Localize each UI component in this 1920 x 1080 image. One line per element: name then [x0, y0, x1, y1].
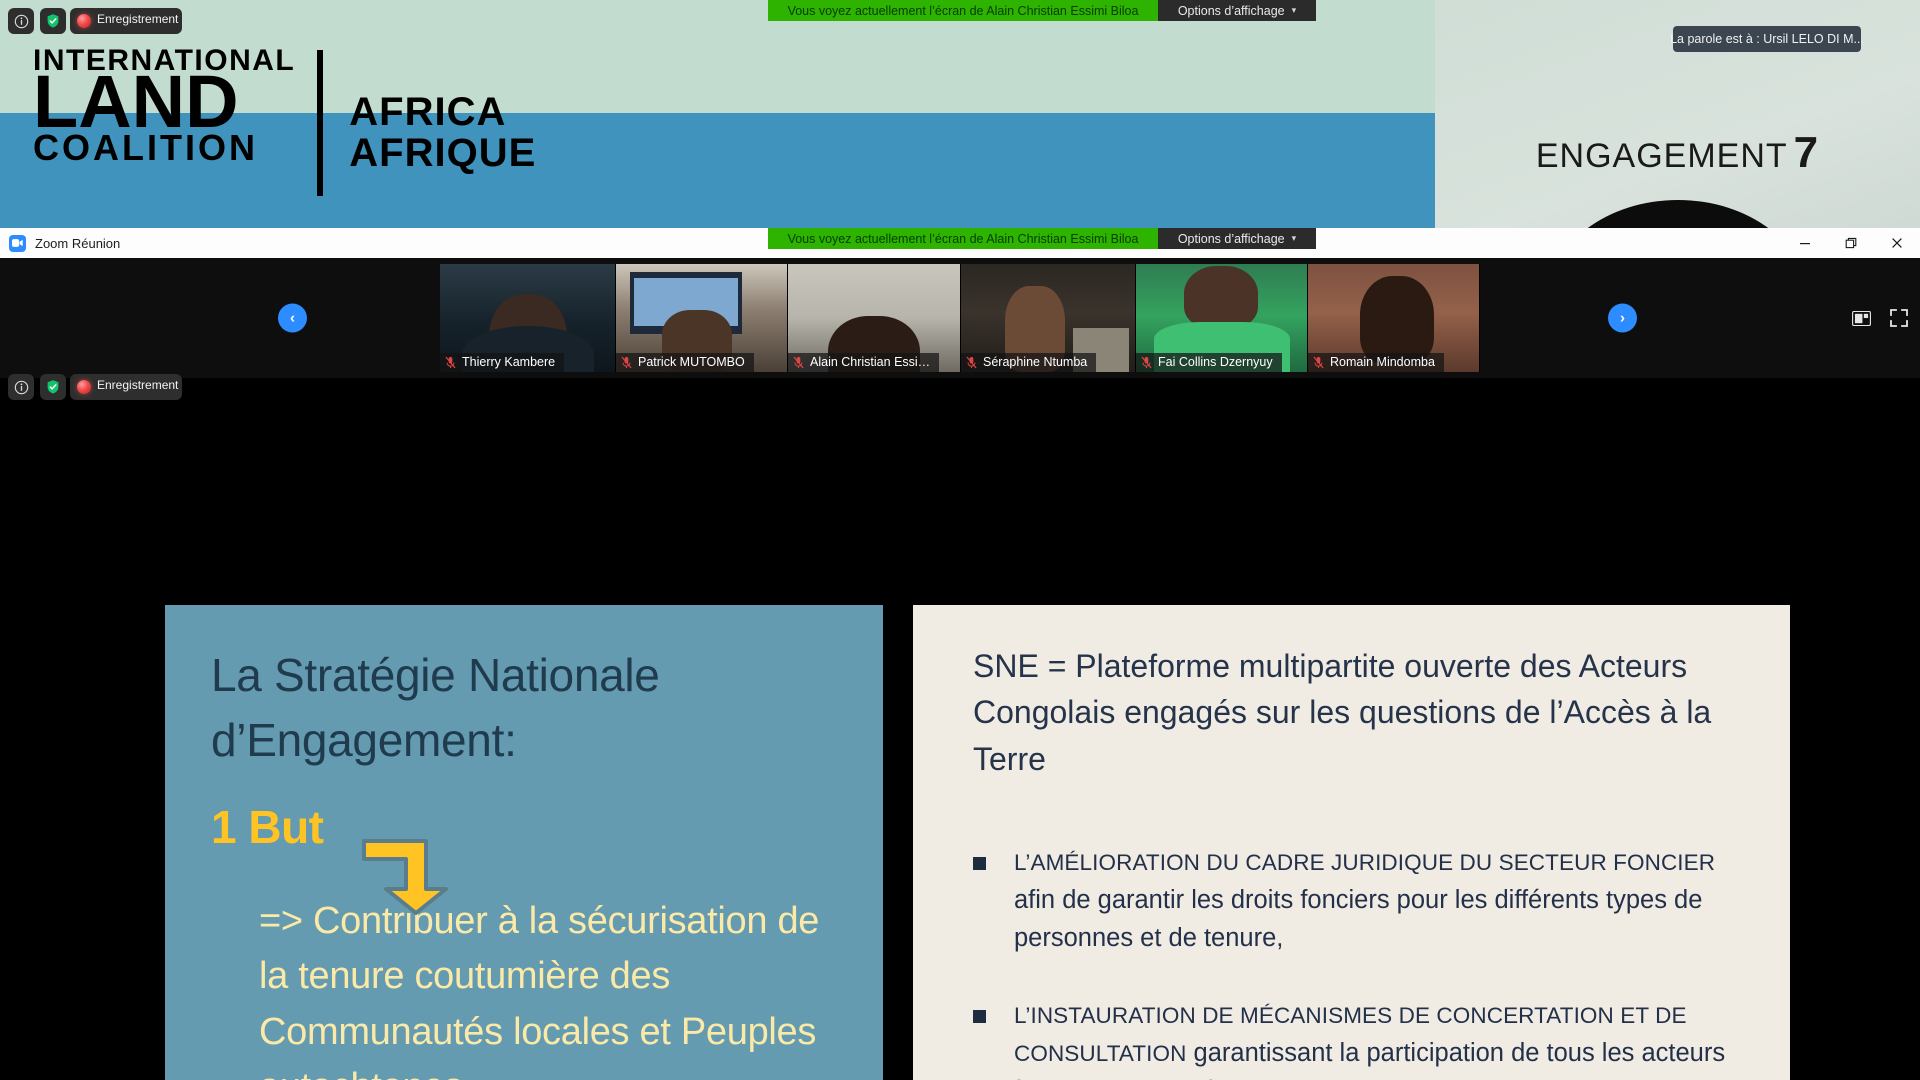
participant-tile[interactable]: Fai Collins Dzernyuy [1136, 264, 1308, 372]
background-slide-header: INTERNATIONAL LAND COALITION AFRICA AFRI… [0, 0, 1920, 240]
screen-root: INTERNATIONAL LAND COALITION AFRICA AFRI… [0, 0, 1920, 1080]
chevron-down-icon: ▾ [1292, 5, 1297, 16]
participant-filmstrip: Thierry Kambere Patrick MUTOMBO [0, 258, 1920, 378]
logo-line-afrique: AFRIQUE [349, 133, 536, 174]
display-options-button-inner[interactable]: Options d’affichage ▾ [1158, 228, 1316, 249]
filmstrip-prev-label: ‹ [290, 310, 295, 327]
participant-tile[interactable]: Thierry Kambere [440, 264, 616, 372]
bullet-square-icon [973, 1010, 986, 1023]
screenshare-notice-outer: Vous voyez actuellement l’écran de Alain… [788, 4, 1139, 18]
participant-name-text: Thierry Kambere [462, 355, 555, 369]
active-speaker-toast: La parole est à : Ursil LELO DI M... [1673, 26, 1861, 52]
slide-bullet-list: L’AMÉLIORATION DU CADRE JURIDIQUE DU SEC… [973, 844, 1730, 1080]
engagement-label: ENGAGEMENT [1536, 137, 1788, 175]
shared-screen-viewport: Enregistrement La Stratégie Nationale d’… [0, 378, 1920, 1080]
mic-off-icon [445, 356, 456, 369]
record-dot-icon-inner [77, 380, 91, 394]
participant-name-text: Patrick MUTOMBO [638, 355, 745, 369]
bullet-text: L’INSTAURATION DE MÉCANISMES DE CONCERTA… [1014, 997, 1730, 1080]
ilc-logo: INTERNATIONAL LAND COALITION AFRICA AFRI… [33, 46, 536, 196]
logo-line-africa: AFRICA [349, 92, 536, 133]
slide-title: La Stratégie Nationale d’Engagement: [211, 643, 849, 774]
screenshare-notice-inner: Vous voyez actuellement l’écran de Alain… [788, 232, 1139, 246]
slide-goal-label: 1 But [211, 800, 849, 854]
bullet-rest: afin de garantir les droits fonciers pou… [1014, 886, 1702, 952]
participant-tile[interactable]: Alain Christian Essi… [788, 264, 961, 372]
filmstrip-next-button[interactable]: › [1608, 304, 1637, 333]
view-layout-icon[interactable] [1850, 307, 1872, 329]
logo-divider [317, 50, 323, 196]
participant-name: Patrick MUTOMBO [616, 353, 754, 372]
slide-right-panel: SNE = Plateforme multipartite ouverte de… [913, 605, 1790, 1080]
slide-left-panel: La Stratégie Nationale d’Engagement: 1 B… [165, 605, 883, 1080]
participant-tile[interactable]: Romain Mindomba [1308, 264, 1480, 372]
bent-down-arrow-icon [360, 837, 456, 920]
minimize-button[interactable] [1782, 228, 1828, 258]
logo-line-coalition: COALITION [33, 130, 295, 166]
presentation-slide: La Stratégie Nationale d’Engagement: 1 B… [165, 605, 1790, 1080]
close-button[interactable] [1874, 228, 1920, 258]
shield-icon-inner[interactable] [40, 374, 66, 400]
ilc-banner: INTERNATIONAL LAND COALITION AFRICA AFRI… [0, 0, 1435, 240]
recording-label-inner: Enregistrement [97, 378, 178, 392]
shield-icon[interactable] [40, 8, 66, 34]
slide-body-text: => Contribuer à la sécurisation de la te… [211, 894, 849, 1080]
slide-right-heading: SNE = Plateforme multipartite ouverte de… [973, 643, 1730, 782]
display-options-button-outer[interactable]: Options d’affichage ▾ [1158, 0, 1316, 21]
mic-off-icon [1313, 356, 1324, 369]
list-item: L’AMÉLIORATION DU CADRE JURIDIQUE DU SEC… [973, 844, 1730, 957]
participant-name: Romain Mindomba [1308, 353, 1444, 372]
bullet-square-icon [973, 857, 986, 870]
active-speaker-text: La parole est à : Ursil LELO DI M... [1670, 32, 1864, 46]
filmstrip-prev-button[interactable]: ‹ [278, 304, 307, 333]
screenshare-banner-outer: Vous voyez actuellement l’écran de Alain… [768, 0, 1158, 21]
participant-tile[interactable]: Patrick MUTOMBO [616, 264, 788, 372]
zoom-window-title: Zoom Réunion [35, 236, 120, 251]
participant-tiles: Thierry Kambere Patrick MUTOMBO [440, 264, 1480, 372]
logo-line-land: LAND [33, 70, 295, 134]
list-item: L’INSTAURATION DE MÉCANISMES DE CONCERTA… [973, 997, 1730, 1080]
participant-name: Thierry Kambere [440, 353, 564, 372]
participant-name: Fai Collins Dzernyuy [1136, 353, 1282, 372]
fullscreen-icon[interactable] [1888, 307, 1910, 329]
chevron-down-icon-inner: ▾ [1292, 233, 1297, 244]
restore-button[interactable] [1828, 228, 1874, 258]
participant-name-text: Fai Collins Dzernyuy [1158, 355, 1273, 369]
participant-name: Alain Christian Essi… [788, 353, 939, 372]
engagement-title: ENGAGEMENT7 [1435, 128, 1920, 178]
participant-name-text: Alain Christian Essi… [810, 355, 930, 369]
bullet-text: L’AMÉLIORATION DU CADRE JURIDIQUE DU SEC… [1014, 844, 1730, 957]
filmstrip-next-label: › [1620, 310, 1625, 327]
zoom-camera-icon [9, 235, 26, 252]
zoom-meeting-window: Zoom Réunion Vous voyez actuellement l’é… [0, 228, 1920, 1080]
screenshare-banner-inner: Vous voyez actuellement l’écran de Alain… [768, 228, 1158, 249]
participant-name: Séraphine Ntumba [961, 353, 1096, 372]
mic-off-icon [966, 356, 977, 369]
display-options-label-inner: Options d’affichage [1178, 232, 1285, 246]
participant-name-text: Romain Mindomba [1330, 355, 1435, 369]
record-dot-icon [77, 14, 91, 28]
participant-tile[interactable]: Séraphine Ntumba [961, 264, 1136, 372]
mic-off-icon [793, 356, 804, 369]
mic-off-icon [621, 356, 632, 369]
info-icon-inner[interactable] [8, 374, 34, 400]
display-options-label-outer: Options d’affichage [1178, 4, 1285, 18]
mic-off-icon [1141, 356, 1152, 369]
info-icon[interactable] [8, 8, 34, 34]
engagement-number: 7 [1794, 128, 1819, 177]
zoom-titlebar[interactable]: Zoom Réunion Vous voyez actuellement l’é… [0, 228, 1920, 258]
recording-label: Enregistrement [97, 12, 178, 26]
bullet-caps: L’AMÉLIORATION DU CADRE JURIDIQUE DU SEC… [1014, 850, 1715, 875]
participant-name-text: Séraphine Ntumba [983, 355, 1087, 369]
